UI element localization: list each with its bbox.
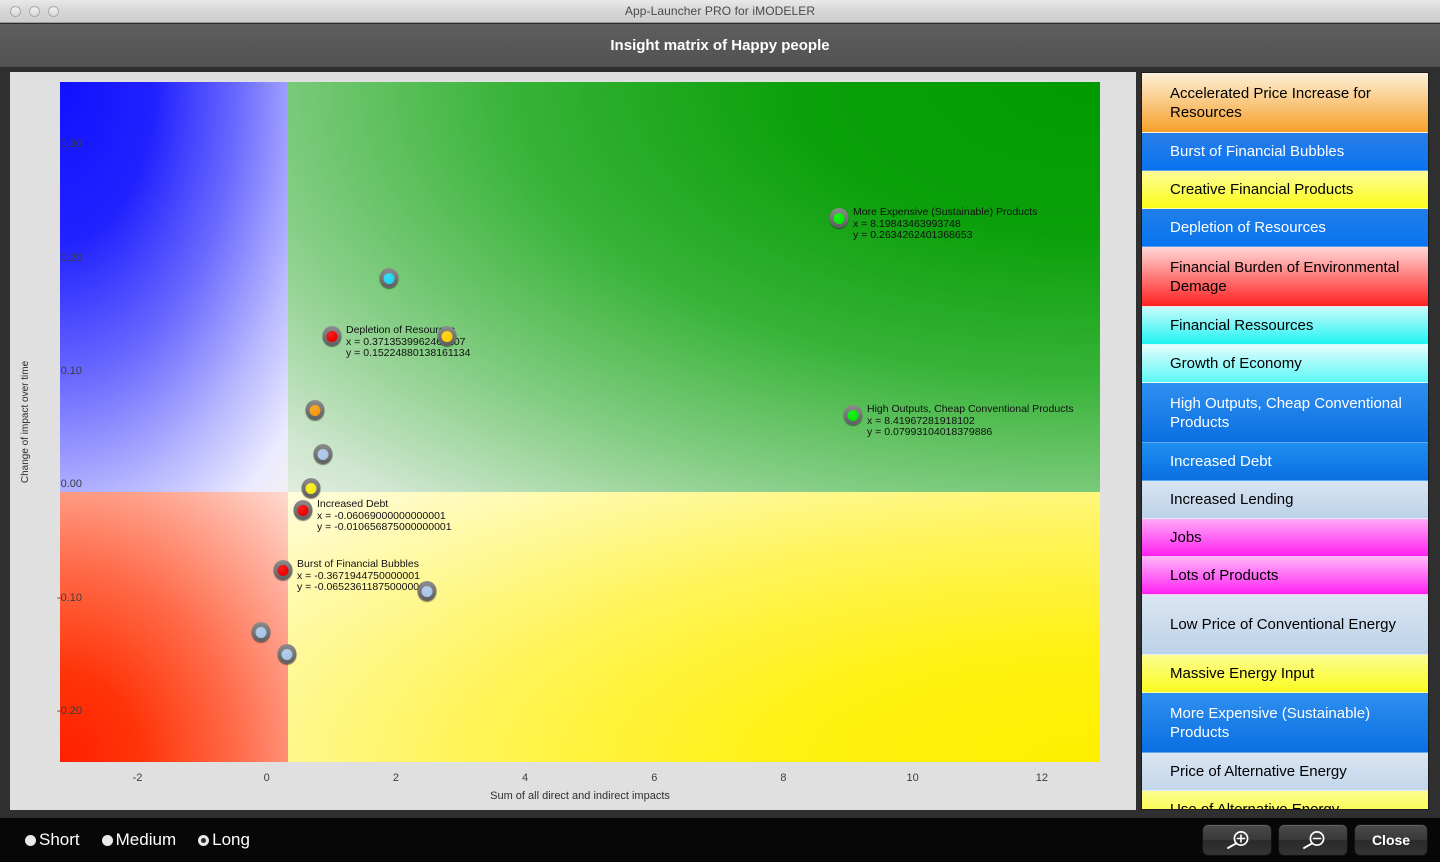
legend-item[interactable]: Massive Energy Input (1142, 655, 1428, 693)
y-tick-label: 0.00 (22, 478, 82, 490)
zoom-out-button[interactable] (1278, 824, 1348, 856)
data-point-y-value: y = 0.2634262401368653 (853, 230, 1037, 242)
x-tick-label: 2 (393, 772, 399, 784)
radio-dot-icon (25, 835, 36, 846)
zoom-in-button[interactable] (1202, 824, 1272, 856)
data-point-label: Burst of Financial Bubblesx = -0.3671944… (297, 559, 431, 594)
plot-area[interactable]: More Expensive (Sustainable) Productsx =… (60, 82, 1100, 762)
x-tick-label: 4 (522, 772, 528, 784)
magnifier-plus-icon (1220, 830, 1254, 850)
legend-item-label: Massive Energy Input (1170, 664, 1314, 683)
close-button[interactable]: Close (1354, 824, 1428, 856)
y-tick-label: -0.20 (22, 705, 82, 717)
quadrant-top-left (60, 82, 288, 492)
x-tick-label: 10 (907, 772, 919, 784)
main-body: More Expensive (Sustainable) Productsx =… (0, 67, 1440, 818)
legend-item[interactable]: Jobs (1142, 519, 1428, 557)
data-point-dot (327, 331, 338, 342)
data-point-y-value: y = 0.07993104018379886 (867, 427, 1074, 439)
x-tick-label: 8 (780, 772, 786, 784)
data-point-marker[interactable] (306, 400, 325, 420)
legend-panel[interactable]: Accelerated Price Increase for Resources… (1141, 72, 1429, 810)
app-header-bar: Insight matrix of Happy people (0, 23, 1440, 67)
data-point-dot (306, 483, 317, 494)
data-point-name: Burst of Financial Bubbles (297, 559, 431, 571)
data-point-marker[interactable] (274, 560, 293, 580)
legend-item[interactable]: Depletion of Resources (1142, 209, 1428, 247)
legend-item[interactable]: Burst of Financial Bubbles (1142, 133, 1428, 171)
y-tick-label: 0.10 (22, 365, 82, 377)
data-point-y-value: y = -0.065236118750000002 (297, 582, 431, 594)
legend-item-label: Depletion of Resources (1170, 218, 1326, 237)
data-point-y-value: y = 0.15224880138161134 (346, 348, 470, 360)
data-point-dot (834, 213, 845, 224)
radio-label: Long (212, 830, 250, 850)
legend-item-label: Financial Ressources (1170, 316, 1313, 335)
data-point-marker[interactable] (380, 268, 399, 288)
legend-item-label: More Expensive (Sustainable) Products (1170, 704, 1418, 742)
data-point-dot (442, 331, 453, 342)
data-point-marker[interactable] (418, 581, 437, 601)
data-point-marker[interactable] (278, 644, 297, 664)
window-title: App-Launcher PRO for iMODELER (0, 4, 1440, 18)
data-point-marker[interactable] (252, 622, 271, 642)
legend-item[interactable]: High Outputs, Cheap Conventional Product… (1142, 383, 1428, 443)
data-point-marker[interactable] (438, 326, 457, 346)
legend-item-label: Price of Alternative Energy (1170, 762, 1347, 781)
y-tick-label: -0.10 (22, 592, 82, 604)
insight-matrix-chart[interactable]: More Expensive (Sustainable) Productsx =… (10, 72, 1136, 810)
y-axis-label: Change of impact over time (20, 361, 31, 483)
legend-item-label: Creative Financial Products (1170, 180, 1353, 199)
data-point-label: Increased Debtx = -0.06069000000000001y … (317, 499, 452, 534)
legend-item[interactable]: More Expensive (Sustainable) Products (1142, 693, 1428, 753)
legend-item[interactable]: Price of Alternative Energy (1142, 753, 1428, 791)
radio-medium[interactable]: Medium (102, 830, 176, 850)
legend-item[interactable]: Increased Debt (1142, 443, 1428, 481)
data-point-marker[interactable] (302, 478, 321, 498)
data-point-dot (318, 449, 329, 460)
legend-item[interactable]: Financial Ressources (1142, 307, 1428, 345)
data-point-y-value: y = -0.010656875000000001 (317, 522, 452, 534)
legend-item-label: Burst of Financial Bubbles (1170, 142, 1344, 161)
x-tick-label: 0 (264, 772, 270, 784)
legend-item-label: Accelerated Price Increase for Resources (1170, 84, 1418, 122)
data-point-marker[interactable] (830, 208, 849, 228)
radio-dot-icon (198, 835, 209, 846)
window-title-bar: App-Launcher PRO for iMODELER (0, 0, 1440, 23)
x-tick-label: -2 (133, 772, 143, 784)
legend-item[interactable]: Lots of Products (1142, 557, 1428, 595)
legend-item-label: Financial Burden of Environmental Demage (1170, 258, 1418, 296)
data-point-dot (282, 649, 293, 660)
data-point-marker[interactable] (844, 405, 863, 425)
data-point-dot (422, 586, 433, 597)
legend-item[interactable]: Low Price of Conventional Energy (1142, 595, 1428, 655)
x-axis-label: Sum of all direct and indirect impacts (60, 790, 1100, 802)
data-point-dot (848, 410, 859, 421)
legend-item[interactable]: Increased Lending (1142, 481, 1428, 519)
legend-item-label: Jobs (1170, 528, 1202, 547)
radio-short[interactable]: Short (25, 830, 80, 850)
legend-item-label: High Outputs, Cheap Conventional Product… (1170, 394, 1418, 432)
page-title: Insight matrix of Happy people (610, 37, 829, 54)
radio-label: Short (39, 830, 80, 850)
radio-long[interactable]: Long (198, 830, 250, 850)
data-point-marker[interactable] (323, 326, 342, 346)
data-point-marker[interactable] (314, 444, 333, 464)
data-point-dot (310, 405, 321, 416)
legend-item-label: Growth of Economy (1170, 354, 1302, 373)
x-tick-label: 12 (1036, 772, 1048, 784)
x-tick-label: 6 (651, 772, 657, 784)
legend-item[interactable]: Accelerated Price Increase for Resources (1142, 73, 1428, 133)
data-point-marker[interactable] (294, 500, 313, 520)
legend-item-label: Increased Lending (1170, 490, 1293, 509)
data-point-name: More Expensive (Sustainable) Products (853, 207, 1037, 219)
data-point-label: More Expensive (Sustainable) Productsx =… (853, 207, 1037, 242)
legend-item[interactable]: Growth of Economy (1142, 345, 1428, 383)
legend-item-label: Lots of Products (1170, 566, 1278, 585)
legend-item-label: Low Price of Conventional Energy (1170, 615, 1396, 634)
y-tick-label: 0.30 (22, 138, 82, 150)
data-point-name: High Outputs, Cheap Conventional Product… (867, 404, 1074, 416)
close-button-label: Close (1372, 832, 1410, 848)
legend-item[interactable]: Creative Financial Products (1142, 171, 1428, 209)
data-point-name: Increased Debt (317, 499, 452, 511)
radio-dot-icon (102, 835, 113, 846)
time-horizon-radio-group[interactable]: ShortMediumLong (25, 830, 250, 850)
data-point-dot (298, 505, 309, 516)
y-tick-label: 0.20 (22, 252, 82, 264)
data-point-dot (256, 627, 267, 638)
data-point-dot (278, 565, 289, 576)
legend-item-label: Use of Alternative Energy (1170, 800, 1339, 810)
radio-label: Medium (116, 830, 176, 850)
toolbar-buttons: Close (1202, 824, 1428, 856)
data-point-label: High Outputs, Cheap Conventional Product… (867, 404, 1074, 439)
legend-item[interactable]: Use of Alternative Energy (1142, 791, 1428, 810)
legend-item[interactable]: Financial Burden of Environmental Demage (1142, 247, 1428, 307)
legend-item-label: Increased Debt (1170, 452, 1272, 471)
bottom-toolbar: ShortMediumLong Close (0, 818, 1440, 862)
magnifier-minus-icon (1296, 830, 1330, 850)
data-point-dot (384, 273, 395, 284)
